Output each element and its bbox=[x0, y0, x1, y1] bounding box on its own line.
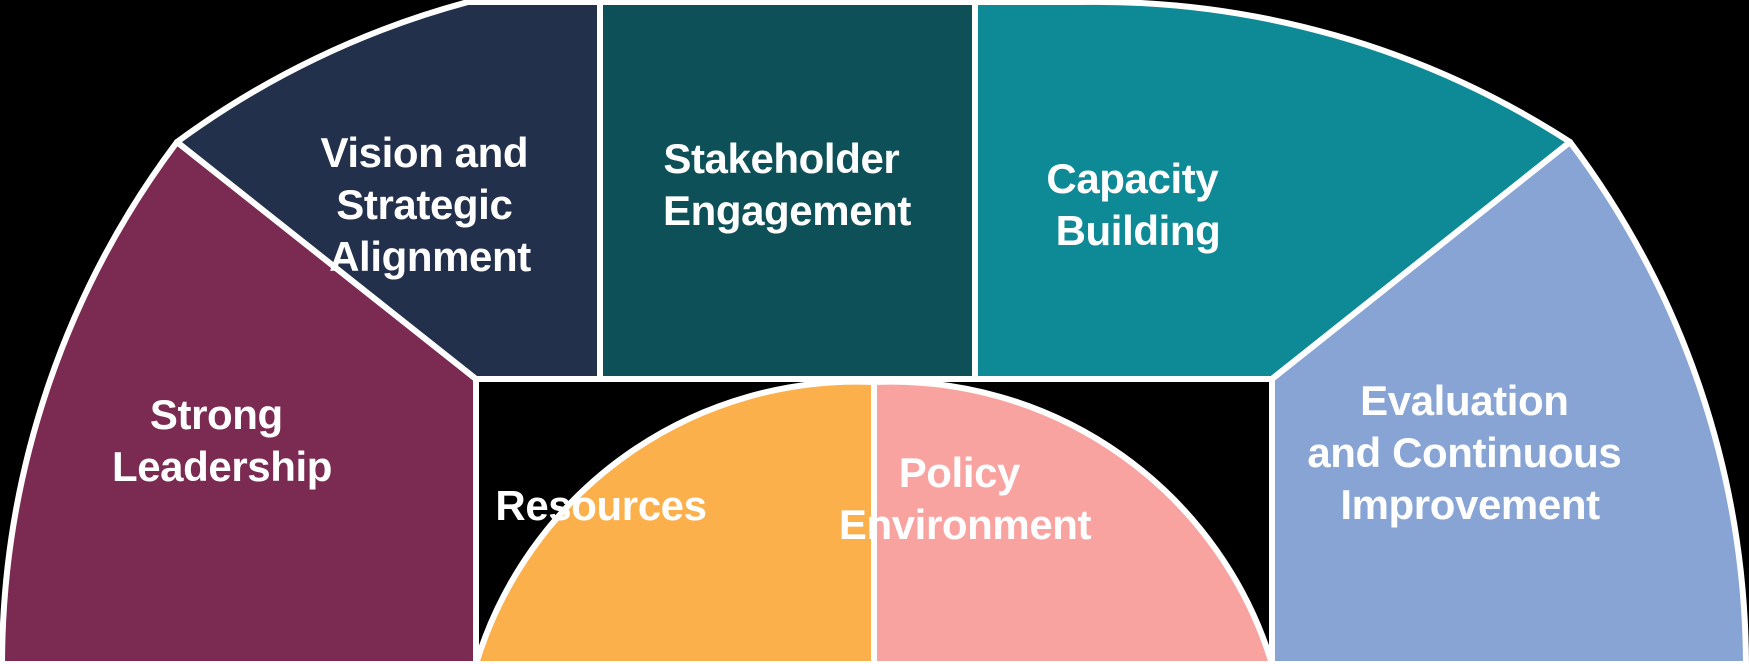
segment-policy-environment[interactable]: Policy Environment bbox=[839, 382, 1272, 664]
label-line: Policy bbox=[899, 449, 1021, 496]
label-line: Leadership bbox=[112, 443, 332, 490]
diagram-root: Strong Leadership Vision and Strategic A… bbox=[0, 0, 1749, 664]
label-line: Stakeholder bbox=[663, 135, 899, 182]
label-line: Strong bbox=[150, 391, 283, 438]
label-line: Building bbox=[1056, 207, 1221, 254]
segment-stakeholder-engagement[interactable]: Stakeholder Engagement bbox=[600, 2, 975, 379]
label-line: Resources bbox=[495, 482, 706, 529]
label-line: Engagement bbox=[663, 187, 911, 234]
label-line: and Continuous bbox=[1307, 429, 1621, 476]
semicircle-diagram: Strong Leadership Vision and Strategic A… bbox=[0, 0, 1749, 664]
segment-resources-label: Resources bbox=[495, 482, 706, 529]
label-line: Environment bbox=[839, 501, 1092, 548]
label-line: Alignment bbox=[329, 233, 531, 280]
label-line: Evaluation bbox=[1360, 377, 1568, 424]
segment-vision-and-strategic-alignment-label: Vision and Strategic Alignment bbox=[321, 129, 540, 280]
label-line: Vision and bbox=[321, 129, 529, 176]
segment-resources[interactable]: Resources bbox=[476, 382, 874, 664]
label-line: Improvement bbox=[1340, 481, 1600, 528]
label-line: Capacity bbox=[1046, 155, 1219, 202]
label-line: Strategic bbox=[336, 181, 512, 228]
